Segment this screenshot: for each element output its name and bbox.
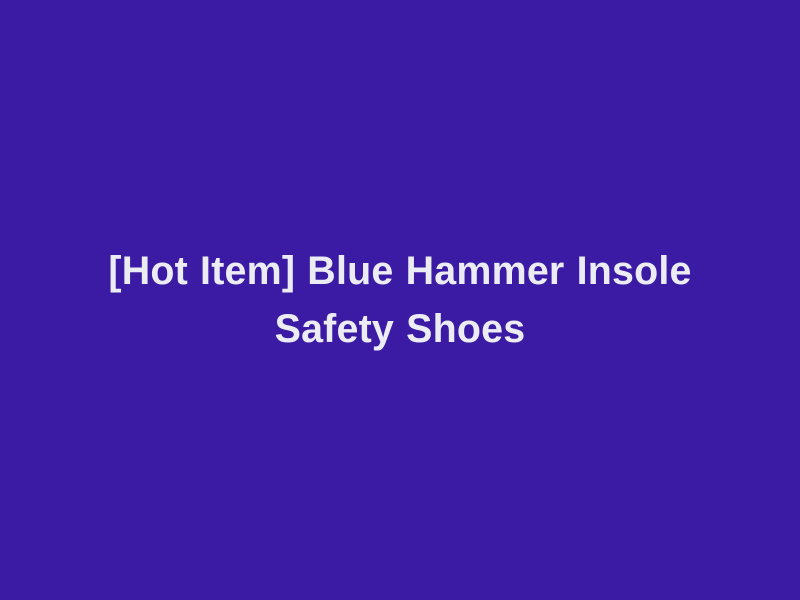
product-title-placeholder-card: [Hot Item] Blue Hammer Insole Safety Sho… bbox=[0, 0, 800, 600]
product-title: [Hot Item] Blue Hammer Insole Safety Sho… bbox=[57, 242, 743, 358]
